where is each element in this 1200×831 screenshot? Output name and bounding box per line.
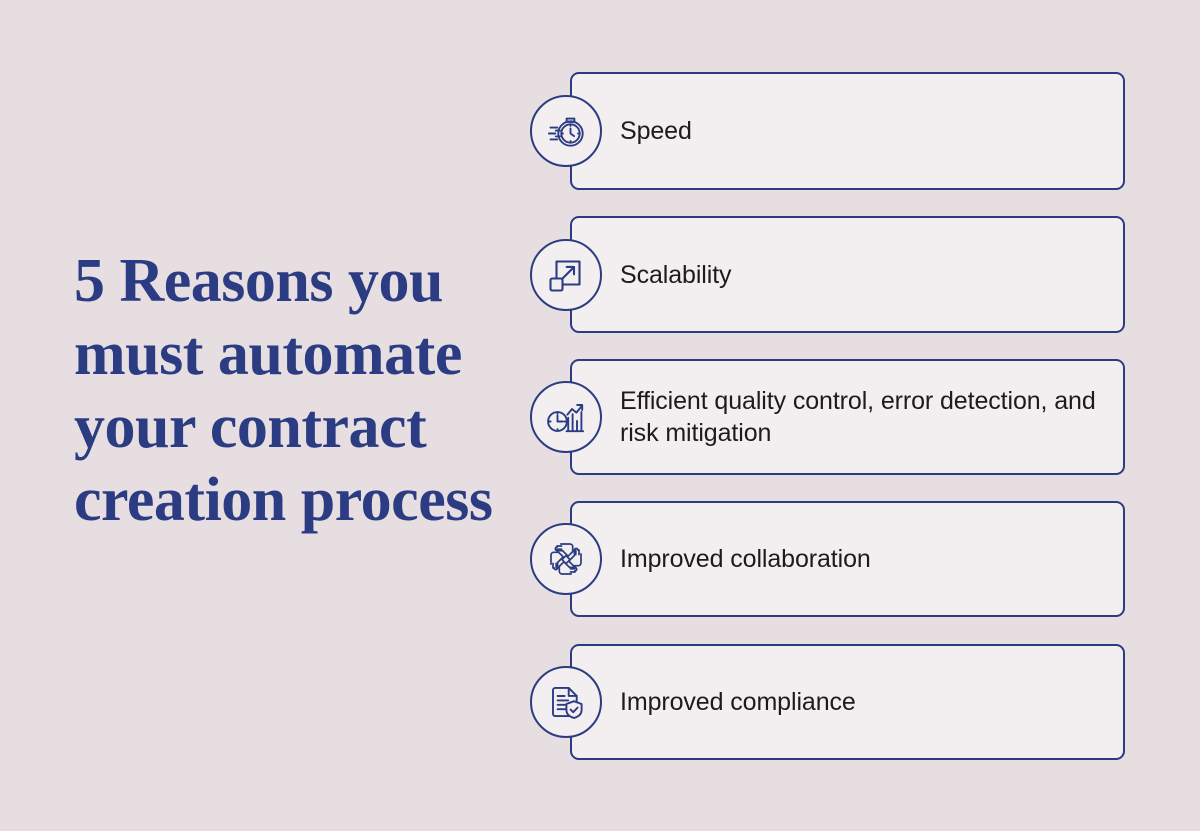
reason-label: Efficient quality control, error detecti… [620, 385, 1107, 449]
list-item: Speed [530, 72, 1125, 190]
stopwatch-speed-icon [530, 95, 602, 167]
infographic-canvas: 5 Reasons you must automate your contrac… [0, 0, 1200, 831]
list-item: Improved collaboration [530, 501, 1125, 617]
reason-label: Improved collaboration [620, 543, 1107, 575]
clock-bar-chart-icon [530, 381, 602, 453]
expand-arrow-scalability-icon [530, 239, 602, 311]
list-item: Improved compliance [530, 644, 1125, 760]
reason-list: Speed Scalability [0, 0, 1200, 831]
reason-label: Scalability [620, 259, 1107, 291]
reason-label: Speed [620, 115, 1107, 147]
reason-label: Improved compliance [620, 686, 1107, 718]
list-item: Efficient quality control, error detecti… [530, 359, 1125, 475]
interlocking-hands-collaboration-icon [530, 523, 602, 595]
document-shield-check-icon [530, 666, 602, 738]
list-item: Scalability [530, 216, 1125, 333]
